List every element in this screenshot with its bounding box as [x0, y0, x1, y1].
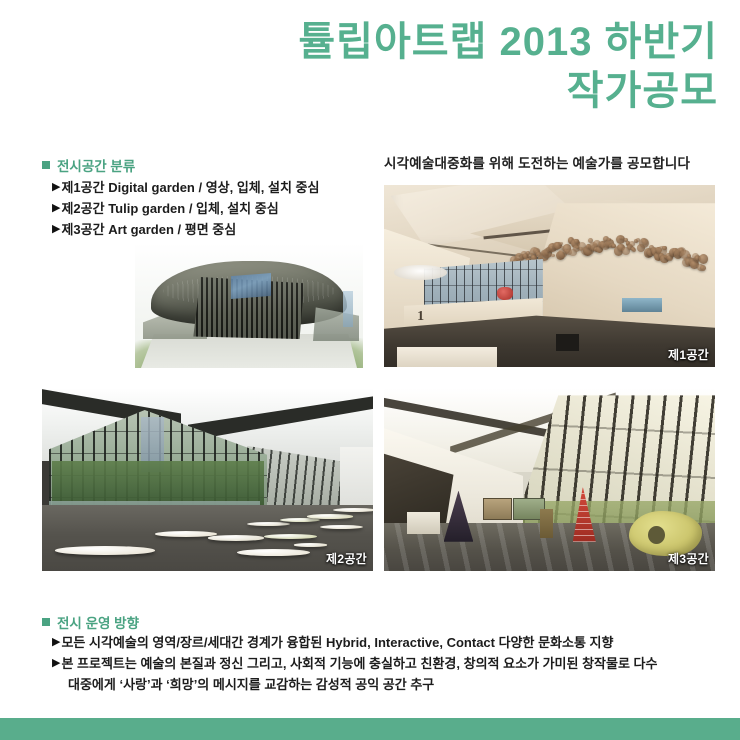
floor-surface — [42, 505, 373, 571]
list-item: ▶ 제2공간 Tulip garden / 입체, 설치 중심 — [52, 198, 319, 219]
triangle-bullet-icon: ▶ — [52, 219, 60, 239]
photo-caption: 제1공간 — [668, 346, 709, 363]
floor-cushion — [237, 549, 310, 556]
floor-cushion — [294, 543, 327, 546]
bottom-accent-bar — [0, 718, 740, 740]
tagline: 시각예술대중화를 위해 도전하는 예술가를 공모합니다 — [384, 152, 690, 172]
section-header-operation-direction: 전시 운영 방향 — [42, 612, 139, 632]
floor-cushion — [280, 518, 320, 522]
list-item: ▶ 제1공간 Digital garden / 영상, 입체, 설치 중심 — [52, 177, 319, 198]
poster-title: 튤립아트랩 2013 하반기 작가공모 — [0, 18, 718, 116]
title-line-2: 작가공모 — [0, 67, 718, 116]
floor-cushion — [55, 546, 154, 555]
list-item: ▶ 모든 시각예술의 영역/장르/세대간 경계가 융합된 Hybrid, Int… — [52, 632, 657, 653]
photo-space-3: 제3공간 — [384, 388, 715, 571]
triangle-bullet-icon: ▶ — [52, 632, 60, 652]
photo-building-exterior — [135, 243, 363, 368]
photo-caption: 제3공간 — [668, 550, 709, 567]
white-bench — [397, 347, 496, 367]
building-glass-panel — [231, 273, 271, 299]
floor-cushion — [333, 508, 373, 512]
list-item-label: 제1공간 Digital garden / 영상, 입체, 설치 중심 — [61, 177, 319, 198]
operation-direction-list: ▶ 모든 시각예술의 영역/장르/세대간 경계가 융합된 Hybrid, Int… — [52, 632, 657, 695]
hanging-lamp — [394, 265, 447, 280]
red-object — [497, 287, 514, 300]
list-item-label: 제2공간 Tulip garden / 입체, 설치 중심 — [61, 198, 278, 219]
square-bullet-icon — [42, 618, 50, 626]
section-header-exhibition-space: 전시공간 분류 — [42, 155, 135, 175]
triangle-bullet-icon: ▶ — [52, 198, 60, 218]
triangle-bullet-icon: ▶ — [52, 653, 60, 673]
photo-space-1: 1 제1공간 — [384, 185, 715, 367]
floor-cushion — [247, 522, 290, 526]
triangle-bullet-icon: ▶ — [52, 177, 60, 197]
list-item-label: 본 프로젝트는 예술의 본질과 정신 그리고, 사회적 기능에 충실하고 친환경… — [61, 653, 657, 674]
floor-cushion — [264, 534, 317, 539]
background-tower — [343, 291, 353, 327]
floor-number-graphic: 1 — [417, 309, 424, 325]
section-header-label: 전시 운영 방향 — [57, 612, 139, 632]
section-header-label: 전시공간 분류 — [57, 155, 135, 175]
photo-caption: 제2공간 — [326, 550, 367, 567]
title-line-1: 튤립아트랩 2013 하반기 — [0, 18, 718, 67]
wood-pedestal — [540, 509, 553, 538]
artwork-frame-a — [483, 498, 511, 520]
square-bullet-icon — [42, 161, 50, 169]
display-plinths — [407, 512, 440, 534]
floor-cushion — [307, 514, 353, 519]
list-item-label: 제3공간 Art garden / 평면 중심 — [61, 219, 236, 240]
list-item: ▶ 제3공간 Art garden / 평면 중심 — [52, 219, 319, 240]
floor-cushion — [208, 535, 264, 540]
black-pedestal — [556, 334, 579, 350]
list-item-label: 모든 시각예술의 영역/장르/세대간 경계가 융합된 Hybrid, Inter… — [61, 632, 613, 653]
floor-cushion — [320, 525, 363, 529]
list-item-continuation: 대중에게 ‘사랑’과 ‘희망’의 메시지를 교감하는 감성적 공익 공간 추구 — [52, 674, 657, 695]
display-monitor — [622, 298, 662, 313]
exhibition-space-list: ▶ 제1공간 Digital garden / 영상, 입체, 설치 중심 ▶ … — [52, 177, 319, 240]
list-item: ▶ 본 프로젝트는 예술의 본질과 정신 그리고, 사회적 기능에 충실하고 친… — [52, 653, 657, 674]
photo-space-2: 제2공간 — [42, 388, 373, 571]
